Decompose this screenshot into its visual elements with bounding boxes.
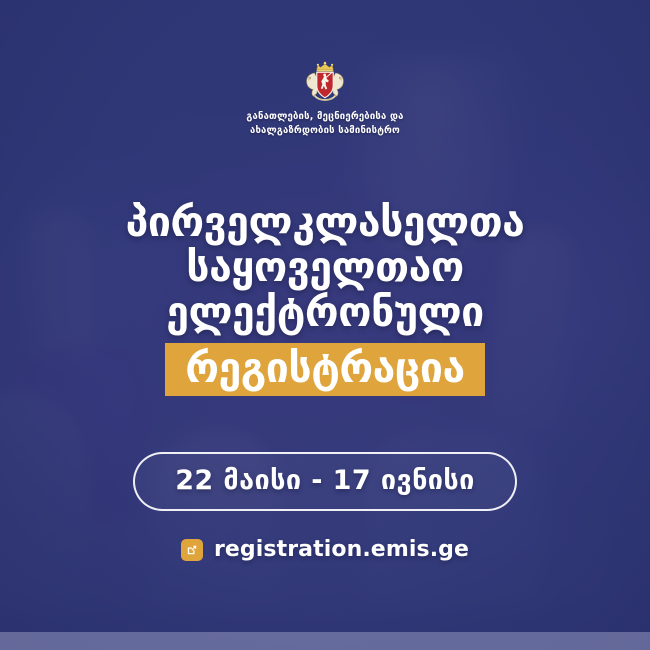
date-range-badge: 22 მაისი - 17 ივნისი [133, 452, 517, 511]
headline-highlight-wrapper: რეგისტრაცია [126, 343, 525, 396]
registration-url-text[interactable]: registration.emis.ge [214, 537, 469, 562]
headline-line-1: პირველკლასელთა [126, 200, 525, 245]
ministry-name-line2: ახალგაზრდობის სამინისტრო [246, 124, 403, 138]
ministry-name-line1: განათლების, მეცნიერებისა და [246, 110, 403, 124]
headline-line-2: საყოველთაო [126, 245, 525, 290]
external-link-icon[interactable] [181, 539, 203, 561]
headline-highlight: რეგისტრაცია [165, 343, 484, 396]
page-title: პირველკლასელთა საყოველთაო ელექტრონული რე… [126, 200, 525, 397]
poster-content: განათლების, მეცნიერებისა და ახალგაზრდობი… [0, 0, 650, 650]
ministry-name: განათლების, მეცნიერებისა და ახალგაზრდობი… [246, 110, 403, 138]
ministry-branding: განათლების, მეცნიერებისა და ახალგაზრდობი… [246, 58, 403, 138]
poster-canvas: განათლების, მეცნიერებისა და ახალგაზრდობი… [0, 0, 650, 650]
georgian-coat-of-arms-icon [301, 58, 349, 106]
headline-line-3: ელექტრონული [126, 290, 525, 335]
registration-url-link[interactable]: registration.emis.ge [181, 537, 469, 562]
